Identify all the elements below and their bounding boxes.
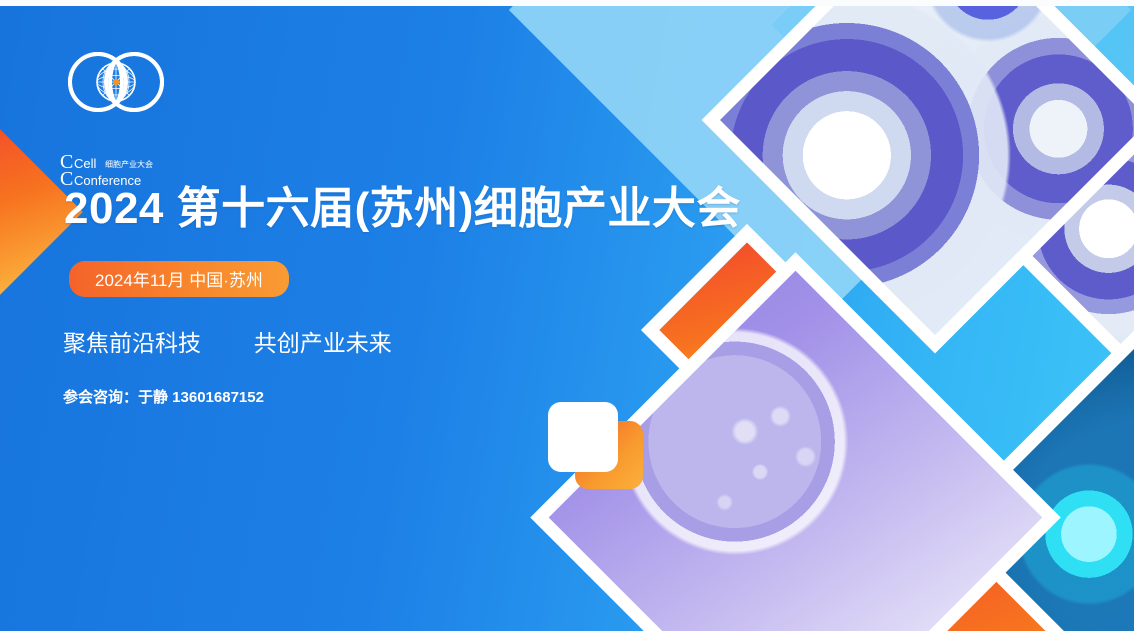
top-white-strip xyxy=(0,0,1134,6)
conference-logo: C Cell 细胞产业大会 C Conference xyxy=(60,45,180,150)
slogan: 聚焦前沿科技 共创产业未来 xyxy=(63,324,392,358)
date-location-badge: 2024年11月 中国·苏州 xyxy=(69,261,289,297)
page-title: 2024 第十六届(苏州)细胞产业大会 xyxy=(64,172,741,236)
contact-info: 参会咨询：于静 13601687152 xyxy=(63,386,264,407)
slogan-right-text: 共创产业未来 xyxy=(254,330,392,356)
conference-banner: C Cell 细胞产业大会 C Conference 2024 第十六届(苏州)… xyxy=(0,0,1134,631)
logo-brand-cn: 细胞产业大会 xyxy=(105,159,153,169)
logo-brand-line1: Cell xyxy=(74,156,97,171)
white-rounded-square-decor xyxy=(548,402,618,472)
slogan-left-text: 聚焦前沿科技 xyxy=(63,330,201,356)
dividing-cell-globe-icon xyxy=(60,45,180,150)
